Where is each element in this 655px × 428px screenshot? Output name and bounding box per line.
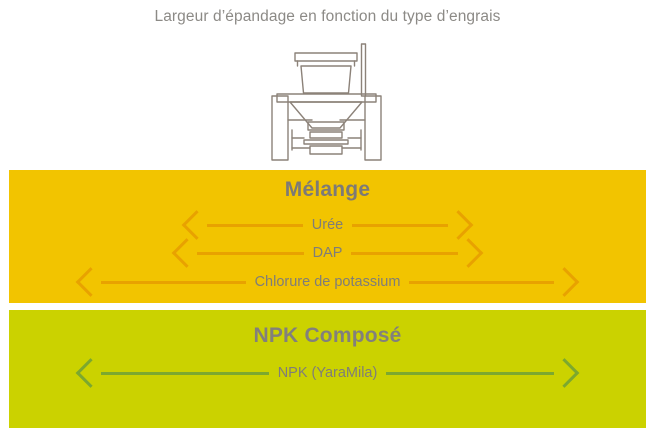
arrow-left-head-icon bbox=[79, 269, 101, 295]
arrow-uree: Urée bbox=[185, 212, 470, 238]
tractor-spreader-icon bbox=[248, 38, 408, 164]
arrow-dap: DAP bbox=[175, 240, 480, 266]
arrow-label-chlorure-de-potassium: Chlorure de potassium bbox=[246, 275, 410, 290]
arrow-left-head-icon bbox=[175, 240, 197, 266]
arrow-left-head-icon bbox=[79, 360, 101, 386]
band-melange-heading: Mélange bbox=[9, 178, 646, 202]
arrow-line-left bbox=[207, 224, 303, 227]
arrow-label-npk-yaramila: NPK (YaraMila) bbox=[269, 366, 387, 381]
arrow-line-right bbox=[351, 252, 458, 255]
arrow-line-right bbox=[352, 224, 448, 227]
spreading-width-infographic: Largeur d’épandage en fonction du type d… bbox=[0, 0, 655, 428]
band-melange: Mélange Urée DAP Chlorure de potassium bbox=[9, 170, 646, 303]
arrow-right-head-icon bbox=[554, 360, 576, 386]
arrow-label-uree: Urée bbox=[303, 218, 352, 233]
arrow-line-left bbox=[101, 372, 269, 375]
band-npk-compose: NPK Composé NPK (YaraMila) bbox=[9, 310, 646, 428]
page-title: Largeur d’épandage en fonction du type d… bbox=[0, 8, 655, 26]
arrow-label-dap: DAP bbox=[304, 246, 352, 261]
arrow-right-head-icon bbox=[554, 269, 576, 295]
band-npk-compose-heading: NPK Composé bbox=[9, 324, 646, 348]
arrow-line-left bbox=[197, 252, 304, 255]
arrow-left-head-icon bbox=[185, 212, 207, 238]
arrow-line-right bbox=[386, 372, 554, 375]
arrow-chlorure-de-potassium: Chlorure de potassium bbox=[79, 269, 576, 295]
arrow-line-left bbox=[101, 281, 246, 284]
arrow-right-head-icon bbox=[458, 240, 480, 266]
arrow-line-right bbox=[409, 281, 554, 284]
arrow-right-head-icon bbox=[448, 212, 470, 238]
arrow-npk-yaramila: NPK (YaraMila) bbox=[79, 360, 576, 386]
